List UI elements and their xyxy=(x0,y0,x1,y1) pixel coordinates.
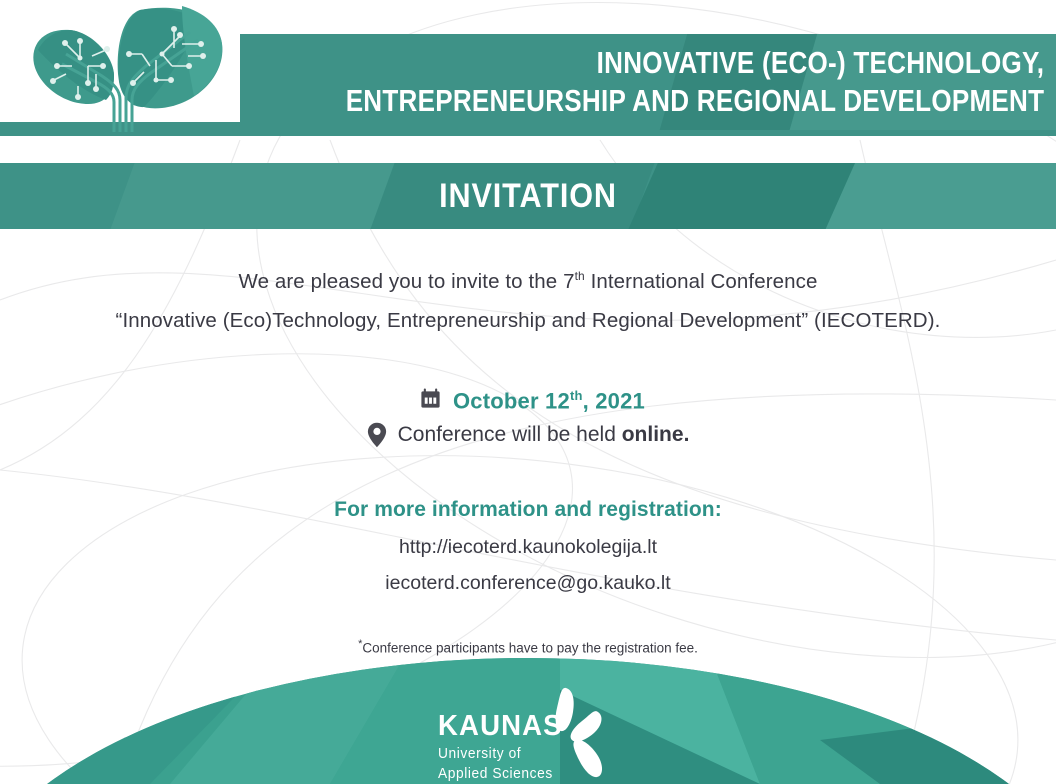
intro-line-1-part-b: International Conference xyxy=(585,270,818,293)
header-title: INNOVATIVE (ECO-) TECHNOLOGY, ENTREPRENE… xyxy=(371,34,1056,130)
intro-line-1: We are pleased you to invite to the 7th … xyxy=(0,257,1056,301)
conference-date: October 12th, 2021 xyxy=(453,379,645,418)
invitation-banner: INVITATION xyxy=(0,163,1056,229)
conference-date-ordinal: th xyxy=(570,388,583,403)
header: INNOVATIVE (ECO-) TECHNOLOGY, ENTREPRENE… xyxy=(0,0,1056,136)
conference-location-part-a: Conference will be held xyxy=(398,423,622,446)
conference-date-row: October 12th, 2021 xyxy=(8,379,1056,418)
conference-location: Conference will be held online. xyxy=(398,418,690,452)
conference-date-part-b: , 2021 xyxy=(583,388,645,413)
footnote-text: Conference participants have to pay the … xyxy=(362,641,697,656)
registration-fee-footnote: *Conference participants have to pay the… xyxy=(0,638,1056,656)
registration-heading: For more information and registration: xyxy=(0,498,1056,522)
invitation-banner-label: INVITATION xyxy=(53,163,1003,229)
header-title-bar: INNOVATIVE (ECO-) TECHNOLOGY, ENTREPRENE… xyxy=(240,34,1056,130)
intro-block: We are pleased you to invite to the 7th … xyxy=(0,257,1056,340)
invitation-body: We are pleased you to invite to the 7th … xyxy=(0,229,1056,656)
intro-line-2: “Innovative (Eco)Technology, Entrepreneu… xyxy=(0,301,1056,340)
conference-date-part-a: October 12 xyxy=(453,388,570,413)
intro-line-1-part-a: We are pleased you to invite to the 7 xyxy=(238,270,574,293)
kaunas-k-mark-icon xyxy=(540,682,612,782)
registration-email[interactable]: iecoterd.conference@go.kauko.lt xyxy=(0,566,1056,600)
registration-website[interactable]: http://iecoterd.kaunokolegija.lt xyxy=(0,530,1056,564)
eco-tech-leaf-logo-icon xyxy=(22,0,242,136)
conference-location-row: Conference will be held online. xyxy=(0,418,1056,452)
header-title-line-1: INNOVATIVE (ECO-) TECHNOLOGY, xyxy=(597,44,1045,82)
registration-block: For more information and registration: h… xyxy=(0,498,1056,600)
map-pin-icon xyxy=(367,422,387,448)
calendar-icon xyxy=(419,387,442,410)
invitation-page: KAUNAS University of Applied Sciences xyxy=(0,0,1056,784)
ordinal-suffix: th xyxy=(575,269,585,283)
header-title-line-2: ENTREPRENEURSHIP AND REGIONAL DEVELOPMEN… xyxy=(346,82,1045,120)
datetime-location-block: October 12th, 2021 Conference will be he… xyxy=(0,379,1056,452)
conference-location-mode: online. xyxy=(622,423,690,446)
